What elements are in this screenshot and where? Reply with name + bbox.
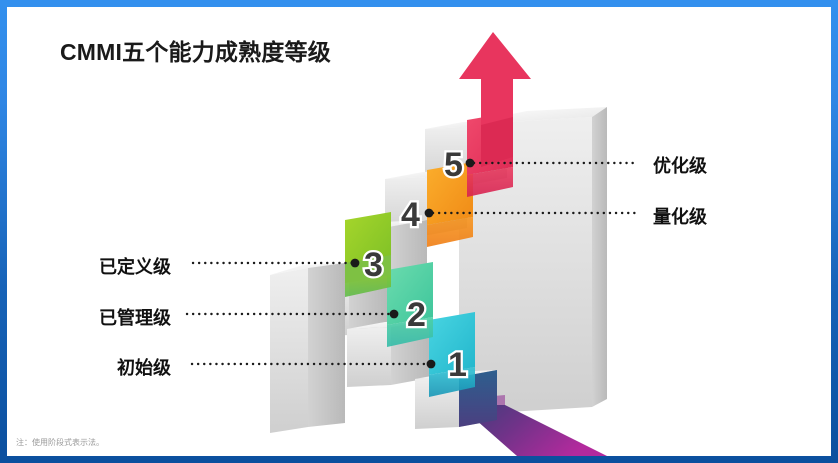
step-number-1: 1 [448,346,467,384]
step-number-4: 4 [401,196,420,234]
step-number-2: 2 [407,296,426,334]
connector-dot-4 [425,209,434,218]
connector-dot-2 [390,310,399,319]
step-number-5: 5 [444,146,463,184]
step-number-3: 3 [364,246,383,284]
slide-canvas: CMMI五个能力成熟度等级 [7,7,831,456]
cmmi-staircase-diagram: 1 2 3 4 5 [7,7,831,456]
step-label-1: 初始级 [117,354,171,380]
connector-dot-3 [351,259,360,268]
connector-dot-5 [466,159,475,168]
step-label-5: 优化级 [653,152,707,178]
slide-frame: CMMI五个能力成熟度等级 [0,0,838,463]
step-label-3: 已定义级 [99,253,171,279]
footnote: 注：使用阶段式表示法。 [16,437,104,448]
left-base-block [270,263,345,433]
connector-dot-1 [427,360,436,369]
step-label-2: 已管理级 [99,304,171,330]
step-label-4: 量化级 [653,203,707,229]
